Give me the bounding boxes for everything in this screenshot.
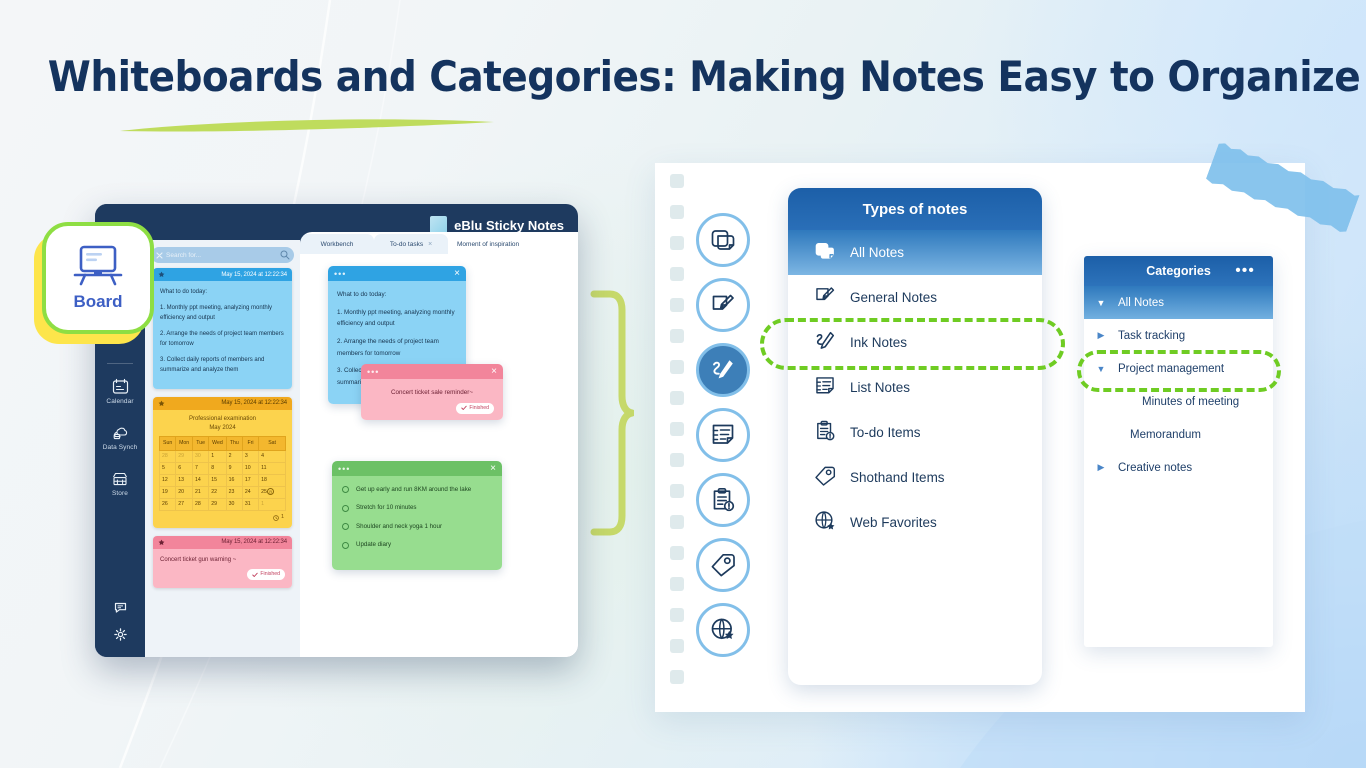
calendar-week-row: 12131415161718 xyxy=(160,474,286,486)
title-underline-icon xyxy=(118,118,496,134)
finished-row: Finished xyxy=(370,403,494,415)
calendar-day-cell[interactable]: 3 xyxy=(242,450,258,462)
perforation-hole xyxy=(670,174,684,188)
type-item-ink-notes[interactable]: Ink Notes xyxy=(788,320,1042,365)
reminder-count: 1 xyxy=(281,513,284,523)
mini-note-header: May 15, 2024 at 12:22:34 xyxy=(153,268,292,281)
workbench-panel: Workbench To-do tasks × Moment of inspir… xyxy=(300,232,578,657)
note-type-icon-rail xyxy=(696,213,750,668)
calendar-weekday: Mon xyxy=(176,436,193,450)
calendar-day-cell[interactable]: 10 xyxy=(242,462,258,474)
calendar-day-cell[interactable]: 4 xyxy=(259,450,286,462)
globe-star-icon xyxy=(814,510,836,535)
rail-icon-list-notes[interactable] xyxy=(696,408,750,462)
note-header: ••• × xyxy=(361,364,503,379)
finished-row: Finished xyxy=(160,569,285,580)
perforation-hole xyxy=(670,453,684,467)
add-tab-button[interactable]: + xyxy=(533,238,541,254)
app-window: eBlu Sticky Notes Time Axis Calendar Dat… xyxy=(95,204,578,657)
note-line: 2. Arrange the needs of project team mem… xyxy=(160,329,285,350)
calendar-day-cell[interactable]: 28 xyxy=(160,450,176,462)
chat-icon[interactable] xyxy=(114,602,127,614)
tag-icon xyxy=(710,552,736,578)
list-note-icon xyxy=(814,375,836,400)
calendar-day-cell[interactable]: 5 xyxy=(160,462,176,474)
type-item-general-notes[interactable]: General Notes xyxy=(788,275,1042,320)
calendar-day-cell[interactable]: 7 xyxy=(192,462,208,474)
board-badge[interactable]: Board xyxy=(42,222,154,334)
notebook-perforations xyxy=(670,174,686,701)
tab-workbench[interactable]: Workbench xyxy=(300,234,374,254)
whiteboard-icon xyxy=(72,244,124,288)
search-placeholder: Search for... xyxy=(166,252,201,259)
pin-icon[interactable] xyxy=(158,400,165,407)
calendar-title-block: Professional examination May 2024 xyxy=(159,415,286,433)
category-item-label: Minutes of meeting xyxy=(1142,396,1239,408)
calendar-day-cell[interactable]: 31 xyxy=(242,498,258,510)
calendar-day-cell[interactable]: 22 xyxy=(209,486,226,498)
cloud-sync-icon xyxy=(111,425,129,441)
close-icon[interactable] xyxy=(156,252,163,259)
type-item-label: To-do Items xyxy=(850,425,921,440)
page-title-wrap: Whiteboards and Categories: Making Notes… xyxy=(0,52,1366,101)
category-item-creative-notes[interactable]: ▶ Creative notes xyxy=(1084,451,1273,484)
calendar-weekday: Sun xyxy=(160,436,176,450)
note-line: 2. Arrange the needs of project team mem… xyxy=(337,336,457,359)
calendar-weekday: Tue xyxy=(192,436,208,450)
day-reminder-icon: ◷ xyxy=(267,488,274,495)
sidebar-item-calendar[interactable]: Calendar xyxy=(106,378,133,405)
checklist-item[interactable]: Shoulder and neck yoga 1 hour xyxy=(342,521,492,532)
calendar-day-cell[interactable]: 17 xyxy=(242,474,258,486)
chevron-right-icon[interactable]: ▶ xyxy=(1084,330,1118,341)
tab-label: Moment of inspiration xyxy=(457,241,519,248)
checklist-item[interactable]: Update diary xyxy=(342,539,492,550)
perforation-hole xyxy=(670,205,684,219)
perforation-hole xyxy=(670,267,684,281)
rail-icon-general-notes[interactable] xyxy=(696,278,750,332)
calendar-day-cell[interactable]: 8 xyxy=(209,462,226,474)
calendar-day-cell[interactable]: 21 xyxy=(192,486,208,498)
note-heading: What to do today: xyxy=(337,289,457,301)
tab-bar: Workbench To-do tasks × Moment of inspir… xyxy=(300,232,578,254)
calendar-day-cell[interactable]: 30 xyxy=(192,450,208,462)
type-item-label: All Notes xyxy=(850,245,904,260)
category-item-minutes-of-meeting[interactable]: Minutes of meeting xyxy=(1084,385,1273,418)
type-item-todo-items[interactable]: To-do Items xyxy=(788,410,1042,455)
pin-icon[interactable] xyxy=(158,271,165,278)
checkbox-icon[interactable] xyxy=(342,542,349,549)
type-item-label: List Notes xyxy=(850,380,910,395)
note-line: 3. Collect daily reports of members and … xyxy=(160,355,285,376)
stacked-notes-icon xyxy=(814,240,836,265)
clipboard-alert-icon xyxy=(710,487,736,513)
calendar-weekday: Sat xyxy=(259,436,286,450)
perforation-hole xyxy=(670,391,684,405)
close-icon[interactable]: × xyxy=(454,269,460,279)
categories-card: Categories ••• ▼ All Notes ▶ Task tracki… xyxy=(1084,256,1273,647)
calendar-weekday: Fri xyxy=(242,436,258,450)
perforation-hole xyxy=(670,360,684,374)
close-icon[interactable]: × xyxy=(490,464,496,474)
perforation-hole xyxy=(670,546,684,560)
mini-note-timestamp: May 15, 2024 at 12:22:34 xyxy=(221,400,287,406)
note-pencil-icon xyxy=(814,285,836,310)
sidebar-bottom-group xyxy=(114,602,127,657)
type-item-list-notes[interactable]: List Notes xyxy=(788,365,1042,410)
search-input[interactable]: Search for... xyxy=(151,247,294,263)
calendar-month: May 2024 xyxy=(159,424,286,433)
perforation-hole xyxy=(670,236,684,250)
calendar-day-cell[interactable]: 13 xyxy=(176,474,193,486)
types-of-notes-card: Types of notes All Notes General Notes xyxy=(788,188,1042,685)
tab-close-icon[interactable]: × xyxy=(428,241,432,248)
pin-icon[interactable] xyxy=(158,539,165,546)
sidebar-item-data-synch[interactable]: Data Synch xyxy=(103,425,138,451)
note-heading: What to do today: xyxy=(160,287,285,298)
calendar-day-cell[interactable]: 29 xyxy=(176,450,193,462)
checklist-label: Update diary xyxy=(356,539,391,550)
check-icon xyxy=(252,572,258,578)
app-brand-label: eBlu Sticky Notes xyxy=(454,218,564,233)
tag-icon xyxy=(814,465,836,490)
checklist-label: Shoulder and neck yoga 1 hour xyxy=(356,521,442,532)
ink-pen-icon xyxy=(710,357,736,383)
calendar-day-cell[interactable]: 23 xyxy=(226,486,242,498)
note-text: Concert ticket sale reminder~ xyxy=(370,387,494,399)
calendar-week-row: 19202122232425◷ xyxy=(160,486,286,498)
perforation-hole xyxy=(670,329,684,343)
type-item-label: Web Favorites xyxy=(850,515,937,530)
chevron-down-icon[interactable]: ▼ xyxy=(1084,298,1118,308)
calendar-weekday: Wed xyxy=(209,436,226,450)
mini-note-pink[interactable]: May 15, 2024 at 12:22:34 Concert ticket … xyxy=(153,536,292,589)
perforation-hole xyxy=(670,484,684,498)
calendar-title: Professional examination xyxy=(159,415,286,424)
type-item-label: General Notes xyxy=(850,290,937,305)
tab-label: To-do tasks xyxy=(390,241,423,248)
stacked-notes-icon xyxy=(710,227,736,253)
calendar-day-cell[interactable]: 9 xyxy=(226,462,242,474)
sidebar-item-label: Data Synch xyxy=(103,444,138,451)
calendar-day-cell[interactable]: 6 xyxy=(176,462,193,474)
mini-note-header: May 15, 2024 at 12:22:34 xyxy=(153,397,292,410)
category-item-label: Project management xyxy=(1118,363,1224,375)
calendar-week-row: 567891011 xyxy=(160,462,286,474)
note-body: Concert ticket sale reminder~ Finished xyxy=(361,379,503,420)
calendar-day-cell[interactable]: 1 xyxy=(259,498,286,510)
checkbox-icon[interactable] xyxy=(342,486,349,493)
category-item-task-tracking[interactable]: ▶ Task tracking xyxy=(1084,319,1273,352)
category-item-memorandum[interactable]: Memorandum xyxy=(1084,418,1273,451)
calendar-day-cell[interactable]: 20 xyxy=(176,486,193,498)
perforation-hole xyxy=(670,639,684,653)
note-pencil-icon xyxy=(710,292,736,318)
mini-note-timestamp: May 15, 2024 at 12:22:34 xyxy=(221,539,287,545)
calendar-grid[interactable]: SunMonTueWedThuFriSat 282930123456789101… xyxy=(159,436,286,512)
perforation-hole xyxy=(670,608,684,622)
category-item-label: Creative notes xyxy=(1118,462,1192,474)
calendar-day-cell[interactable]: 15 xyxy=(209,474,226,486)
checklist-label: Get up early and run 8KM around the lake xyxy=(356,484,471,495)
category-item-project-management[interactable]: ▼ Project management xyxy=(1084,352,1273,385)
category-item-label: Memorandum xyxy=(1130,429,1201,441)
status-badge-label: Finished xyxy=(469,404,489,414)
checkbox-icon[interactable] xyxy=(342,523,349,530)
status-badge-label: Finished xyxy=(260,570,280,579)
clipboard-alert-icon xyxy=(814,420,836,445)
board-badge-label: Board xyxy=(73,292,122,312)
calendar-day-cell[interactable]: 11 xyxy=(259,462,286,474)
type-item-web-favorites[interactable]: Web Favorites xyxy=(788,500,1042,545)
close-icon[interactable]: × xyxy=(491,367,497,377)
categories-panel-title: Categories xyxy=(1146,264,1211,278)
workbench-canvas[interactable]: ••• × What to do today: 1. Monthly ppt m… xyxy=(300,254,578,657)
tab-moment-of-inspiration[interactable]: Moment of inspiration xyxy=(448,234,528,254)
tab-todo-tasks[interactable]: To-do tasks × xyxy=(374,234,448,254)
calendar-day-cell[interactable]: 14 xyxy=(192,474,208,486)
calendar-day-cell[interactable]: 12 xyxy=(160,474,176,486)
calendar-icon xyxy=(112,378,129,395)
perforation-hole xyxy=(670,422,684,436)
mini-note-blue[interactable]: May 15, 2024 at 12:22:34 What to do toda… xyxy=(153,268,292,389)
calendar-week-row: 2627282930311 xyxy=(160,498,286,510)
store-icon xyxy=(111,471,129,487)
calendar-day-cell[interactable]: 24 xyxy=(242,486,258,498)
calendar-week-row: 2829301234 xyxy=(160,450,286,462)
calendar-weekday: Thu xyxy=(226,436,242,450)
calendar-day-cell[interactable]: 16 xyxy=(226,474,242,486)
note-header: ••• × xyxy=(332,461,502,476)
type-item-all-notes[interactable]: All Notes xyxy=(788,230,1042,275)
rail-icon-all-notes[interactable] xyxy=(696,213,750,267)
calendar-day-cell[interactable]: 2 xyxy=(226,450,242,462)
sidebar-item-label: Store xyxy=(112,490,128,497)
mini-note-calendar[interactable]: May 15, 2024 at 12:22:34 Professional ex… xyxy=(153,397,292,528)
checklist-item[interactable]: Get up early and run 8KM around the lake xyxy=(342,484,492,495)
checklist-item[interactable]: Stretch for 10 minutes xyxy=(342,502,492,513)
calendar-day-cell[interactable]: 28 xyxy=(192,498,208,510)
workbench-note-pink[interactable]: ••• × Concert ticket sale reminder~ Fini… xyxy=(361,364,503,420)
type-item-label: Ink Notes xyxy=(850,335,907,350)
tab-label: Workbench xyxy=(321,241,354,248)
calendar-day-cell[interactable]: 25◷ xyxy=(259,486,286,498)
types-panel-title: Types of notes xyxy=(788,188,1042,230)
type-item-shothand-items[interactable]: Shothand Items xyxy=(788,455,1042,500)
sidebar-item-label: Calendar xyxy=(106,398,133,405)
chevron-right-icon[interactable]: ▶ xyxy=(1084,462,1118,473)
checkbox-icon[interactable] xyxy=(342,505,349,512)
mini-note-body: Concert ticket gun warning ~ Finished xyxy=(153,549,292,589)
note-header: ••• × xyxy=(328,266,466,281)
calendar-day-cell[interactable]: 27 xyxy=(176,498,193,510)
category-item-all-notes[interactable]: ▼ All Notes xyxy=(1084,286,1273,319)
rail-icon-web-favorites[interactable] xyxy=(696,603,750,657)
globe-star-icon xyxy=(710,617,736,643)
status-badge: Finished xyxy=(456,403,494,415)
chevron-down-icon[interactable]: ▼ xyxy=(1084,364,1118,374)
calendar-day-cell[interactable]: 18 xyxy=(259,474,286,486)
category-item-label: All Notes xyxy=(1118,297,1164,309)
calendar-reminder: 1 xyxy=(159,511,286,523)
note-body: Get up early and run 8KM around the lake… xyxy=(332,476,502,570)
sidebar-item-store[interactable]: Store xyxy=(111,471,129,497)
workbench-note-green[interactable]: ••• × Get up early and run 8KM around th… xyxy=(332,461,502,570)
calendar-day-cell[interactable]: 30 xyxy=(226,498,242,510)
mini-note-header: May 15, 2024 at 12:22:34 xyxy=(153,536,292,549)
perforation-hole xyxy=(670,298,684,312)
calendar-day-cell[interactable]: 26 xyxy=(160,498,176,510)
category-item-label: Task tracking xyxy=(1118,330,1185,342)
checklist-label: Stretch for 10 minutes xyxy=(356,502,417,513)
perforation-hole xyxy=(670,515,684,529)
categories-panel-header: Categories ••• xyxy=(1084,256,1273,286)
sidebar-divider xyxy=(107,363,133,364)
list-note-icon xyxy=(710,422,736,448)
calendar-day-cell[interactable]: 19 xyxy=(160,486,176,498)
calendar-day-cell[interactable]: 29 xyxy=(209,498,226,510)
perforation-hole xyxy=(670,670,684,684)
rail-icon-todo-items[interactable] xyxy=(696,473,750,527)
mini-note-body: What to do today: 1. Monthly ppt meeting… xyxy=(153,281,292,389)
status-badge: Finished xyxy=(247,569,285,580)
note-text: Concert ticket gun warning ~ xyxy=(160,555,285,566)
clock-icon xyxy=(273,515,279,521)
rail-icon-shothand-items[interactable] xyxy=(696,538,750,592)
note-line: 1. Monthly ppt meeting, analyzing monthl… xyxy=(160,303,285,324)
check-icon xyxy=(461,405,467,411)
curly-brace-icon xyxy=(588,288,634,538)
notes-column: Search for... May 15, 2024 at 12:22:34 W… xyxy=(145,240,300,657)
type-item-label: Shothand Items xyxy=(850,470,945,485)
perforation-hole xyxy=(670,577,684,591)
rail-icon-ink-notes[interactable] xyxy=(696,343,750,397)
mini-note-body: Professional examination May 2024 SunMon… xyxy=(153,410,292,528)
ink-pen-icon xyxy=(814,330,836,355)
page-title: Whiteboards and Categories: Making Notes… xyxy=(48,52,1318,101)
gear-icon[interactable] xyxy=(114,628,127,641)
note-line: 1. Monthly ppt meeting, analyzing monthl… xyxy=(337,307,457,330)
search-icon[interactable] xyxy=(280,250,290,260)
mini-note-timestamp: May 15, 2024 at 12:22:34 xyxy=(221,272,287,278)
calendar-day-cell[interactable]: 1 xyxy=(209,450,226,462)
